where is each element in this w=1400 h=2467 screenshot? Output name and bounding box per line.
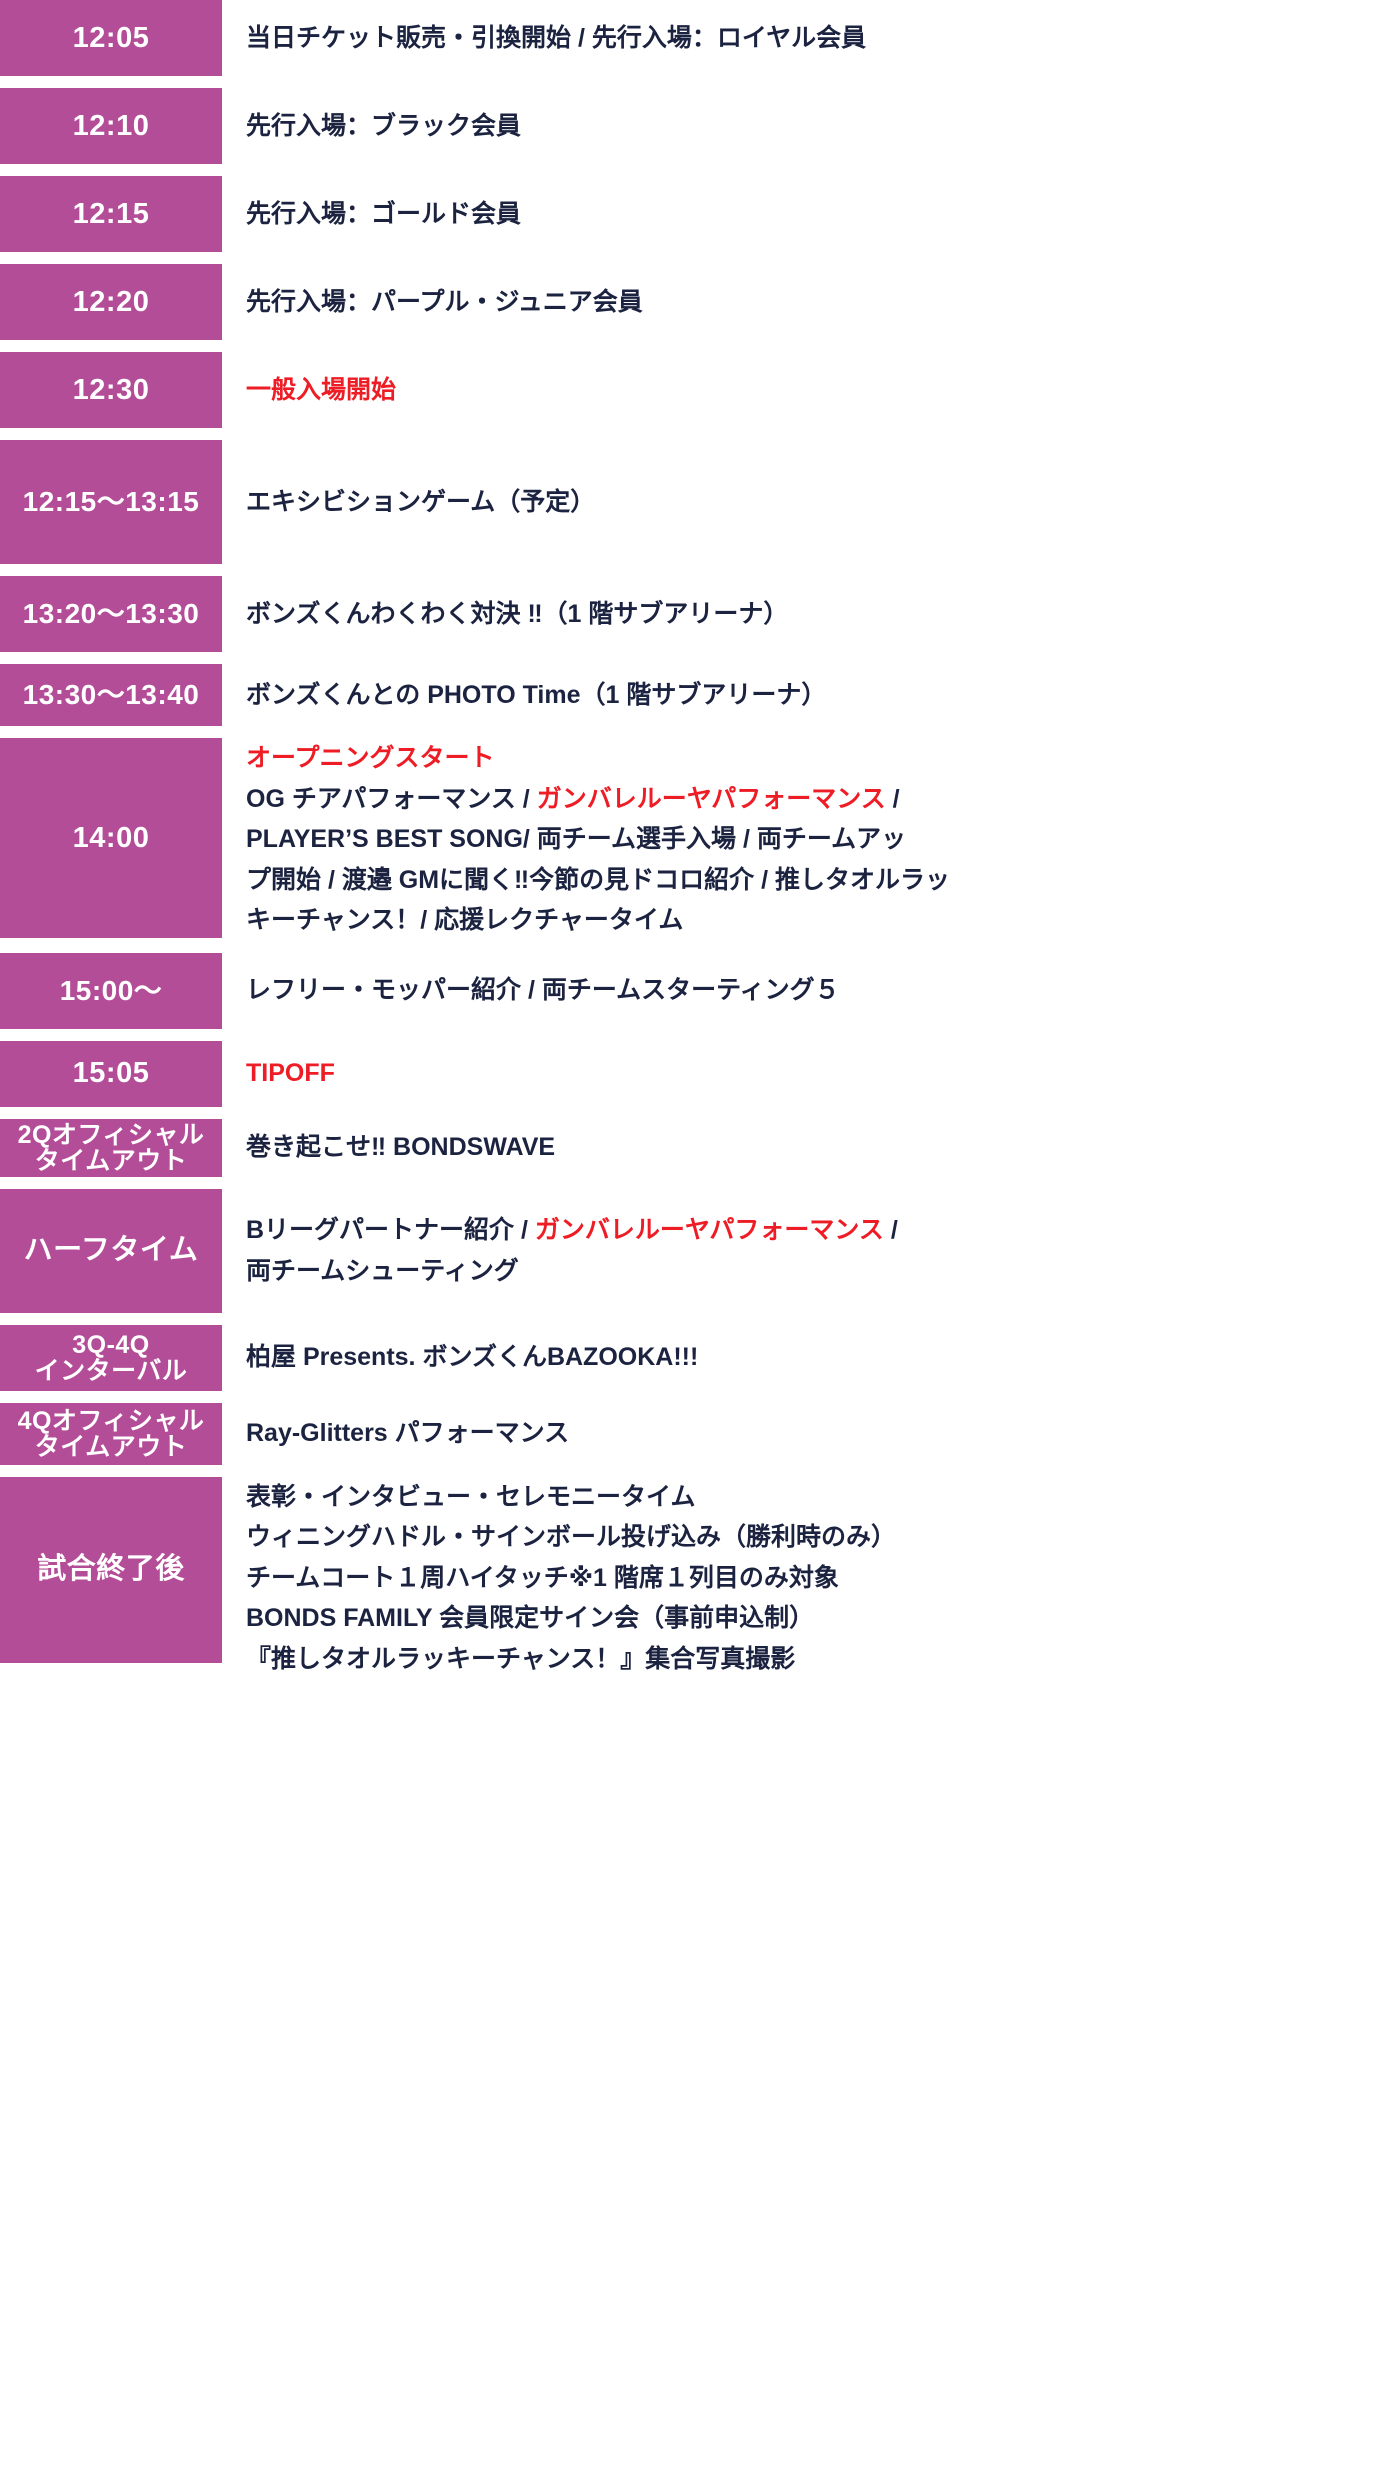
event-description: オープニングスタートOG チアパフォーマンス / ガンバレルーヤパフォーマンス …: [222, 738, 1400, 941]
description-lines: 表彰・インタビュー・セレモニータイムウィニングハドル・サインボール投げ込み（勝利…: [246, 1477, 1374, 1680]
time-label: 試合終了後: [0, 1477, 222, 1663]
description-lines: Bリーグパートナー紹介 / ガンバレルーヤパフォーマンス /両チームシューティン…: [246, 1210, 1374, 1291]
game-day-schedule-table: 12:05当日チケット販売・引換開始 / 先行入場：ロイヤル会員12:10先行入…: [0, 0, 1400, 1679]
description-line: Ray-Glitters パフォーマンス: [246, 1413, 1374, 1454]
event-description: 当日チケット販売・引換開始 / 先行入場：ロイヤル会員: [222, 0, 1400, 76]
description-line: ボンズくんわくわく対決 ‼（1 階サブアリーナ）: [246, 594, 1374, 635]
body-text: ボンズくんわくわく対決 ‼（1 階サブアリーナ）: [246, 600, 788, 628]
body-text: 柏屋 Presents. ボンズくんBAZOOKA!!!: [246, 1343, 698, 1371]
description-lines: 柏屋 Presents. ボンズくんBAZOOKA!!!: [246, 1337, 1374, 1378]
schedule-row: 12:15〜13:15エキシビションゲーム（予定）: [0, 440, 1400, 564]
description-line: 先行入場：パープル・ジュニア会員: [246, 282, 1374, 323]
schedule-row: 12:30一般入場開始: [0, 352, 1400, 428]
description-line: 当日チケット販売・引換開始 / 先行入場：ロイヤル会員: [246, 18, 1374, 59]
description-line: オープニングスタート: [246, 738, 1374, 779]
time-label: 15:05: [0, 1041, 222, 1107]
description-line: 先行入場：ブラック会員: [246, 106, 1374, 147]
schedule-row: 12:10先行入場：ブラック会員: [0, 88, 1400, 164]
schedule-row: 2Qオフィシャル タイムアウト巻き起こせ‼ BONDSWAVE: [0, 1119, 1400, 1177]
body-text: /: [884, 1216, 898, 1244]
time-label: 12:30: [0, 352, 222, 428]
event-description: 柏屋 Presents. ボンズくんBAZOOKA!!!: [222, 1325, 1400, 1391]
description-line: チームコート１周ハイタッチ※1 階席１列目のみ対象: [246, 1558, 1374, 1599]
description-lines: Ray-Glitters パフォーマンス: [246, 1413, 1374, 1454]
body-text: チームコート１周ハイタッチ※1 階席１列目のみ対象: [246, 1564, 839, 1592]
description-line: BONDS FAMILY 会員限定サイン会（事前申込制）: [246, 1598, 1374, 1639]
description-lines: 当日チケット販売・引換開始 / 先行入場：ロイヤル会員: [246, 18, 1374, 59]
schedule-row: 14:00オープニングスタートOG チアパフォーマンス / ガンバレルーヤパフォ…: [0, 738, 1400, 941]
time-label: 15:00〜: [0, 953, 222, 1029]
event-description: 先行入場：ブラック会員: [222, 88, 1400, 164]
body-text: Bリーグパートナー紹介 /: [246, 1216, 535, 1244]
schedule-row: 12:20先行入場：パープル・ジュニア会員: [0, 264, 1400, 340]
time-label: 14:00: [0, 738, 222, 938]
description-line: ボンズくんとの PHOTO Time（1 階サブアリーナ）: [246, 675, 1374, 716]
description-line: OG チアパフォーマンス / ガンバレルーヤパフォーマンス /: [246, 779, 1374, 820]
time-label: ハーフタイム: [0, 1189, 222, 1313]
schedule-row: 3Q-4Q インターバル柏屋 Presents. ボンズくんBAZOOKA!!!: [0, 1325, 1400, 1391]
body-text: 両チームシューティング: [246, 1257, 519, 1285]
description-line: 表彰・インタビュー・セレモニータイム: [246, 1477, 1374, 1518]
time-label: 2Qオフィシャル タイムアウト: [0, 1119, 222, 1177]
body-text: 先行入場：パープル・ジュニア会員: [246, 288, 643, 316]
event-description: エキシビションゲーム（予定）: [222, 440, 1400, 564]
highlight-text: 一般入場開始: [246, 376, 396, 404]
event-description: ボンズくんわくわく対決 ‼（1 階サブアリーナ）: [222, 576, 1400, 652]
body-text: OG チアパフォーマンス /: [246, 785, 537, 813]
schedule-row: 13:20〜13:30ボンズくんわくわく対決 ‼（1 階サブアリーナ）: [0, 576, 1400, 652]
schedule-row: 15:05TIPOFF: [0, 1041, 1400, 1107]
event-description: Ray-Glitters パフォーマンス: [222, 1403, 1400, 1465]
time-label: 4Qオフィシャル タイムアウト: [0, 1403, 222, 1465]
schedule-row: 試合終了後表彰・インタビュー・セレモニータイムウィニングハドル・サインボール投げ…: [0, 1477, 1400, 1680]
description-lines: エキシビションゲーム（予定）: [246, 482, 1374, 523]
description-line: PLAYER’S BEST SONG/ 両チーム選手入場 / 両チームアッ: [246, 819, 1374, 860]
body-text: エキシビションゲーム（予定）: [246, 488, 595, 516]
body-text: ボンズくんとの PHOTO Time（1 階サブアリーナ）: [246, 681, 826, 709]
event-description: 巻き起こせ‼ BONDSWAVE: [222, 1119, 1400, 1177]
body-text: 表彰・インタビュー・セレモニータイム: [246, 1483, 696, 1511]
description-lines: 一般入場開始: [246, 370, 1374, 411]
description-lines: 巻き起こせ‼ BONDSWAVE: [246, 1127, 1374, 1168]
description-line: 先行入場：ゴールド会員: [246, 194, 1374, 235]
time-label: 12:10: [0, 88, 222, 164]
event-description: Bリーグパートナー紹介 / ガンバレルーヤパフォーマンス /両チームシューティン…: [222, 1189, 1400, 1313]
event-description: TIPOFF: [222, 1041, 1400, 1107]
description-lines: レフリー・モッパー紹介 / 両チームスターティング５: [246, 970, 1374, 1011]
highlight-text: ガンバレルーヤパフォーマンス: [535, 1216, 884, 1244]
description-lines: オープニングスタートOG チアパフォーマンス / ガンバレルーヤパフォーマンス …: [246, 738, 1374, 941]
description-line: 柏屋 Presents. ボンズくんBAZOOKA!!!: [246, 1337, 1374, 1378]
description-lines: ボンズくんとの PHOTO Time（1 階サブアリーナ）: [246, 675, 1374, 716]
time-label: 12:05: [0, 0, 222, 76]
body-text: BONDS FAMILY 会員限定サイン会（事前申込制）: [246, 1604, 814, 1632]
schedule-row: 15:00〜レフリー・モッパー紹介 / 両チームスターティング５: [0, 953, 1400, 1029]
highlight-text: TIPOFF: [246, 1059, 335, 1087]
schedule-row: ハーフタイムBリーグパートナー紹介 / ガンバレルーヤパフォーマンス /両チーム…: [0, 1189, 1400, 1313]
highlight-text: ガンバレルーヤパフォーマンス: [537, 785, 886, 813]
body-text: 巻き起こせ‼ BONDSWAVE: [246, 1133, 555, 1161]
event-description: レフリー・モッパー紹介 / 両チームスターティング５: [222, 953, 1400, 1029]
description-line: ウィニングハドル・サインボール投げ込み（勝利時のみ）: [246, 1517, 1374, 1558]
body-text: 『推しタオルラッキーチャンス！』集合写真撮影: [246, 1645, 795, 1673]
description-line: 巻き起こせ‼ BONDSWAVE: [246, 1127, 1374, 1168]
time-label: 12:15: [0, 176, 222, 252]
time-label: 12:20: [0, 264, 222, 340]
description-line: Bリーグパートナー紹介 / ガンバレルーヤパフォーマンス /: [246, 1210, 1374, 1251]
description-line: キーチャンス！/ 応援レクチャータイム: [246, 900, 1374, 941]
event-description: 先行入場：パープル・ジュニア会員: [222, 264, 1400, 340]
description-line: エキシビションゲーム（予定）: [246, 482, 1374, 523]
description-line: TIPOFF: [246, 1053, 1374, 1094]
description-line: 『推しタオルラッキーチャンス！』集合写真撮影: [246, 1639, 1374, 1680]
description-lines: 先行入場：パープル・ジュニア会員: [246, 282, 1374, 323]
body-text: 当日チケット販売・引換開始 / 先行入場：ロイヤル会員: [246, 24, 866, 52]
time-label: 12:15〜13:15: [0, 440, 222, 564]
description-line: レフリー・モッパー紹介 / 両チームスターティング５: [246, 970, 1374, 1011]
description-line: 一般入場開始: [246, 370, 1374, 411]
schedule-row: 12:15先行入場：ゴールド会員: [0, 176, 1400, 252]
schedule-row: 13:30〜13:40ボンズくんとの PHOTO Time（1 階サブアリーナ）: [0, 664, 1400, 726]
event-description: 一般入場開始: [222, 352, 1400, 428]
body-text: 先行入場：ゴールド会員: [246, 200, 521, 228]
description-lines: ボンズくんわくわく対決 ‼（1 階サブアリーナ）: [246, 594, 1374, 635]
body-text: プ開始 / 渡邉 GMに聞く‼今節の見ドコロ紹介 / 推しタオルラッ: [246, 866, 950, 894]
body-text: PLAYER’S BEST SONG/ 両チーム選手入場 / 両チームアッ: [246, 825, 906, 853]
time-label: 3Q-4Q インターバル: [0, 1325, 222, 1391]
event-description: ボンズくんとの PHOTO Time（1 階サブアリーナ）: [222, 664, 1400, 726]
description-lines: 先行入場：ブラック会員: [246, 106, 1374, 147]
highlight-text: オープニングスタート: [246, 744, 495, 772]
time-label: 13:20〜13:30: [0, 576, 222, 652]
body-text: ウィニングハドル・サインボール投げ込み（勝利時のみ）: [246, 1523, 896, 1551]
body-text: 先行入場：ブラック会員: [246, 112, 521, 140]
body-text: キーチャンス！/ 応援レクチャータイム: [246, 906, 683, 934]
description-line: プ開始 / 渡邉 GMに聞く‼今節の見ドコロ紹介 / 推しタオルラッ: [246, 860, 1374, 901]
schedule-row: 12:05当日チケット販売・引換開始 / 先行入場：ロイヤル会員: [0, 0, 1400, 76]
description-line: 両チームシューティング: [246, 1251, 1374, 1292]
event-description: 表彰・インタビュー・セレモニータイムウィニングハドル・サインボール投げ込み（勝利…: [222, 1477, 1400, 1680]
description-lines: TIPOFF: [246, 1053, 1374, 1094]
time-label: 13:30〜13:40: [0, 664, 222, 726]
body-text: /: [886, 785, 900, 813]
body-text: Ray-Glitters パフォーマンス: [246, 1419, 569, 1447]
body-text: レフリー・モッパー紹介 / 両チームスターティング５: [246, 976, 840, 1004]
event-description: 先行入場：ゴールド会員: [222, 176, 1400, 252]
schedule-row: 4Qオフィシャル タイムアウトRay-Glitters パフォーマンス: [0, 1403, 1400, 1465]
description-lines: 先行入場：ゴールド会員: [246, 194, 1374, 235]
